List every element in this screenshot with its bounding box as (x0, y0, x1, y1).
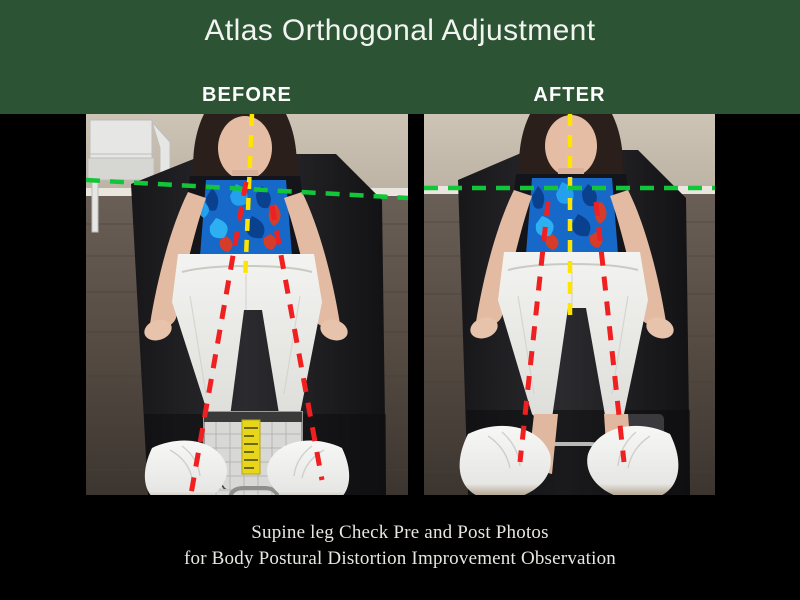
after-photo (424, 114, 715, 495)
after-scene (424, 114, 715, 495)
caption: Supine leg Check Pre and Post Photos for… (0, 520, 800, 572)
before-photo: R (86, 114, 408, 495)
before-label: BEFORE (86, 84, 408, 107)
slide-root: Atlas Orthogonal Adjustment BEFORE AFTER (0, 0, 800, 600)
before-scene: R (86, 114, 408, 495)
page-title: Atlas Orthogonal Adjustment (0, 14, 800, 48)
after-label: AFTER (424, 84, 715, 107)
caption-line-2: for Body Postural Distortion Improvement… (0, 546, 800, 572)
caption-line-1: Supine leg Check Pre and Post Photos (0, 520, 800, 546)
